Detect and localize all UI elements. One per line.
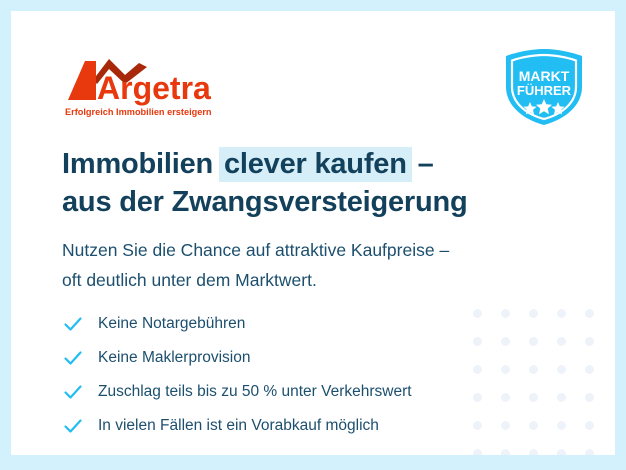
headline-pre: Immobilien [62,148,221,180]
dot [473,309,482,318]
dot [529,337,538,346]
check-icon [63,416,83,436]
list-item: In vielen Fällen ist ein Vorabkauf mögli… [63,411,412,440]
check-icon [63,382,83,402]
dot [501,365,510,374]
dot [501,337,510,346]
dot [473,449,482,455]
dot [529,393,538,402]
dot [585,393,594,402]
subheadline-line-2: oft deutlich unter dem Marktwert. [62,265,449,295]
dot [473,421,482,430]
dot [501,393,510,402]
banner-card: Argetra Erfolgreich Immobilien ersteiger… [11,11,615,455]
dot [585,449,594,455]
list-item-label: In vielen Fällen ist ein Vorabkauf mögli… [98,417,379,435]
dot [557,449,566,455]
dot [557,421,566,430]
headline-line-1: Immobilien clever kaufen – [62,145,468,183]
headline-post: – [410,148,434,180]
dot [529,309,538,318]
headline-highlight: clever kaufen [219,147,412,182]
subheadline-line-1: Nutzen Sie die Chance auf attraktive Kau… [62,235,449,265]
subheadline: Nutzen Sie die Chance auf attraktive Kau… [62,235,449,295]
dot [501,309,510,318]
list-item: Keine Notargebühren [63,309,412,338]
check-icon [63,314,83,334]
list-item-label: Keine Maklerprovision [98,349,251,367]
argetra-logo[interactable]: Argetra Erfolgreich Immobilien ersteiger… [63,53,213,121]
list-item: Keine Maklerprovision [63,343,412,372]
dot [473,365,482,374]
dot [557,337,566,346]
dot [557,365,566,374]
badge-line1: MARKT [519,68,570,84]
advertisement-banner: Argetra Erfolgreich Immobilien ersteiger… [0,0,626,470]
dot [557,393,566,402]
list-item: Zuschlag teils bis zu 50 % unter Verkehr… [63,377,412,406]
dot [501,449,510,455]
dot [529,421,538,430]
dot [473,393,482,402]
dot-grid-decoration [463,300,603,455]
dot [585,337,594,346]
page-title: Immobilien clever kaufen – aus der Zwang… [62,145,468,221]
dot [501,421,510,430]
badge-line2: FÜHRER [517,83,572,98]
benefits-checklist: Keine NotargebührenKeine Maklerprovision… [63,309,412,445]
logo-wordmark: Argetra [97,70,211,106]
logo-tagline: Erfolgreich Immobilien ersteigern [65,107,212,117]
dot [585,421,594,430]
dot [557,309,566,318]
dot [529,365,538,374]
check-icon [63,348,83,368]
dot [473,337,482,346]
dot [585,309,594,318]
dot [585,365,594,374]
dot [529,449,538,455]
markt-fuehrer-badge: MARKT FÜHRER [500,47,588,127]
headline-line-2: aus der Zwangsversteigerung [62,183,468,221]
list-item-label: Zuschlag teils bis zu 50 % unter Verkehr… [98,383,412,401]
list-item-label: Keine Notargebühren [98,315,245,333]
